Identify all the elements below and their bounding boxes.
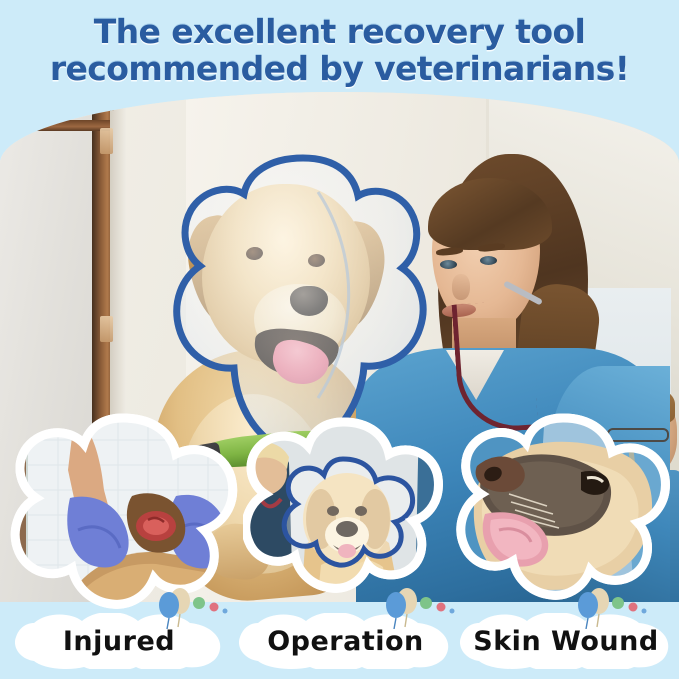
label-badge-skin-wound: Skin Wound	[459, 613, 673, 669]
vet-eye-left	[440, 260, 457, 269]
label-badge-injured: Injured	[14, 613, 224, 669]
label-badge-operation: Operation	[238, 613, 453, 669]
use-case-thumbnail-operation	[243, 415, 443, 605]
headline: The excellent recovery tool recommended …	[0, 14, 679, 88]
use-case-thumbnail-injured	[8, 410, 238, 610]
vet-eye-right	[480, 256, 497, 265]
label-text-operation: Operation	[267, 626, 424, 657]
balloon-decoration-operation	[381, 585, 457, 629]
balloon-decoration-injured	[154, 585, 230, 629]
door-highlight-top	[100, 128, 113, 154]
door-highlight-mid	[100, 316, 113, 342]
label-text-injured: Injured	[63, 626, 175, 657]
headline-line-2: recommended by veterinarians!	[0, 51, 679, 88]
headline-line-1: The excellent recovery tool	[0, 14, 679, 51]
operation-photo	[243, 415, 443, 605]
label-text-skin-wound: Skin Wound	[473, 626, 658, 657]
door-frame-horizontal	[0, 120, 110, 131]
use-case-thumbnail-skin-wound	[455, 410, 670, 605]
balloon-decoration-skin-wound	[573, 585, 649, 629]
vet-nose	[452, 274, 470, 300]
product-poster: The excellent recovery tool recommended …	[0, 0, 679, 679]
